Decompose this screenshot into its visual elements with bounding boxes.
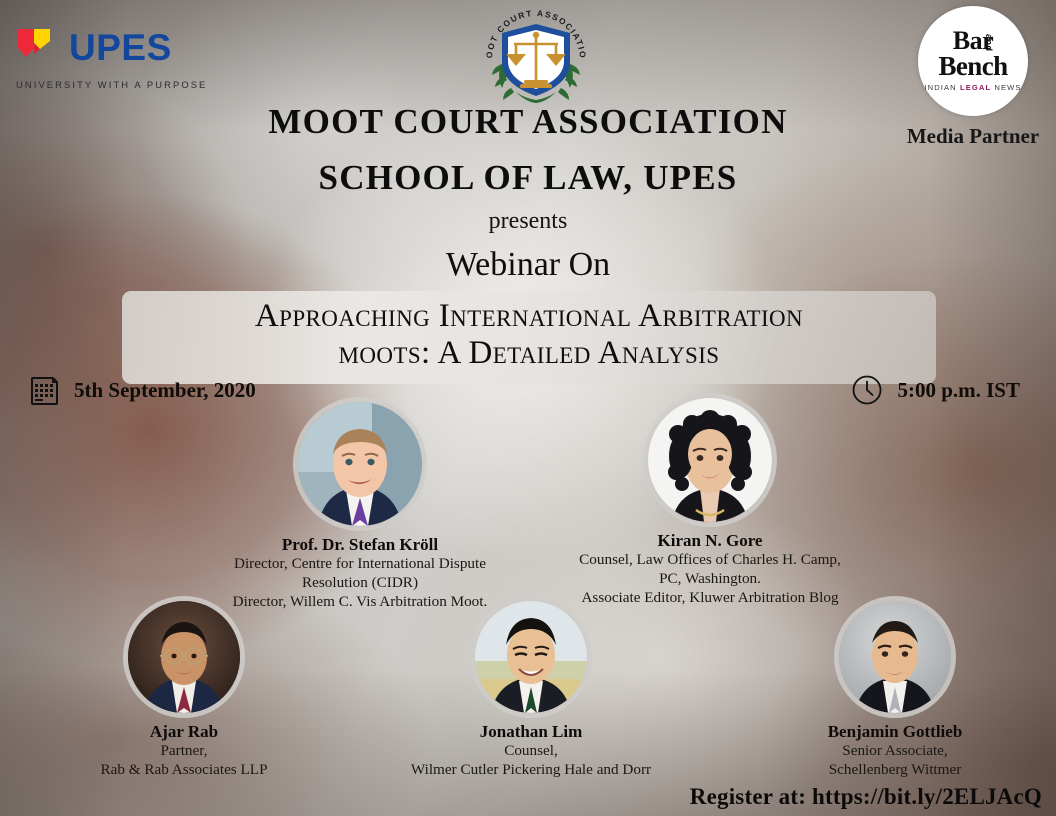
webinar-title-line-2: moots: A Detailed Analysis	[122, 335, 936, 372]
bnb-sub-1: INDIAN	[924, 83, 960, 92]
speaker-detail-line: Senior Associate,	[770, 742, 1020, 761]
organization-title: MOOT COURT ASSOCIATION	[0, 102, 1056, 142]
upes-wordmark: UPES	[69, 29, 172, 66]
speaker-name: Ajar Rab	[58, 722, 310, 742]
event-date-text: 5th September, 2020	[74, 378, 256, 403]
webinar-poster: UPES UNIVERSITY WITH A PURPOSE MOOT COUR…	[0, 0, 1056, 816]
upes-logo: UPES UNIVERSITY WITH A PURPOSE	[14, 24, 207, 90]
speaker-detail-line: Schellenberg Wittmer	[770, 761, 1020, 780]
speaker-detail-line: Rab & Rab Associates LLP	[58, 761, 310, 780]
bar-and-bench-and-text: and	[984, 34, 992, 52]
organization-subtitle: SCHOOL OF LAW, UPES	[0, 158, 1056, 198]
speaker-ajar-rab: Ajar Rab Partner, Rab & Rab Associates L…	[58, 601, 310, 780]
event-meta-row: 5th September, 2020 5:00 p.m. IST	[0, 374, 1056, 408]
bnb-sub-2: NEWS	[991, 83, 1021, 92]
bar-and-bench-circle: Bar and Bench INDIAN LEGAL NEWS	[918, 6, 1028, 116]
portrait-stefan-kroll	[298, 402, 422, 526]
speaker-name: Benjamin Gottlieb	[770, 722, 1020, 742]
speaker-detail-line: Wilmer Cutler Pickering Hale and Dorr	[385, 761, 677, 780]
speaker-name: Prof. Dr. Stefan Kröll	[205, 535, 515, 555]
calendar-icon	[30, 374, 60, 406]
portrait-jonathan-lim	[475, 601, 587, 713]
portrait-benjamin-gottlieb	[839, 601, 951, 713]
webinar-title-line-1: Approaching International Arbitration	[122, 298, 936, 335]
speaker-detail-line: Counsel,	[385, 742, 677, 761]
event-time: 5:00 p.m. IST	[851, 374, 1020, 406]
avatar-ajar-rab	[128, 601, 240, 713]
bar-and-bench-line1: Bar and	[953, 30, 993, 53]
upes-tagline: UNIVERSITY WITH A PURPOSE	[16, 79, 207, 90]
speaker-name: Jonathan Lim	[385, 722, 677, 742]
speaker-detail-line: Counsel, Law Offices of Charles H. Camp,	[560, 551, 860, 570]
bnb-sub-accent: LEGAL	[960, 83, 991, 92]
speaker-stefan-kroll: Prof. Dr. Stefan Kröll Director, Centre …	[205, 402, 515, 612]
upes-logo-row: UPES	[14, 24, 172, 70]
event-time-text: 5:00 p.m. IST	[897, 378, 1020, 403]
moot-court-crest-icon: MOOT COURT ASSOCIATION	[478, 4, 594, 104]
speaker-detail-line: Director, Centre for International Dispu…	[205, 555, 515, 574]
bar-and-bench-line2: Bench	[938, 54, 1007, 78]
avatar-benjamin-gottlieb	[839, 601, 951, 713]
speaker-kiran-gore: Kiran N. Gore Counsel, Law Offices of Ch…	[560, 398, 860, 608]
avatar-jonathan-lim	[475, 601, 587, 713]
speaker-jonathan-lim: Jonathan Lim Counsel, Wilmer Cutler Pick…	[385, 601, 677, 780]
speaker-detail-line: Resolution (CIDR)	[205, 574, 515, 593]
upes-shield-icon	[14, 24, 60, 70]
speaker-detail-line: PC, Washington.	[560, 570, 860, 589]
register-link[interactable]: Register at: https://bit.ly/2ELJAcQ	[690, 784, 1042, 810]
avatar-kiran-gore	[648, 398, 772, 522]
portrait-ajar-rab	[128, 601, 240, 713]
speaker-detail-line: Partner,	[58, 742, 310, 761]
webinar-title-banner: Approaching International Arbitration mo…	[122, 291, 936, 384]
speaker-name: Kiran N. Gore	[560, 531, 860, 551]
presents-label: presents	[0, 208, 1056, 235]
bar-and-bench-subtitle: INDIAN LEGAL NEWS	[924, 83, 1021, 92]
moot-court-association-logo: MOOT COURT ASSOCIATION	[478, 4, 594, 104]
portrait-kiran-gore	[648, 398, 772, 522]
speaker-benjamin-gottlieb: Benjamin Gottlieb Senior Associate, Sche…	[770, 601, 1020, 780]
avatar-stefan-kroll	[298, 402, 422, 526]
webinar-on-label: Webinar On	[0, 246, 1056, 284]
